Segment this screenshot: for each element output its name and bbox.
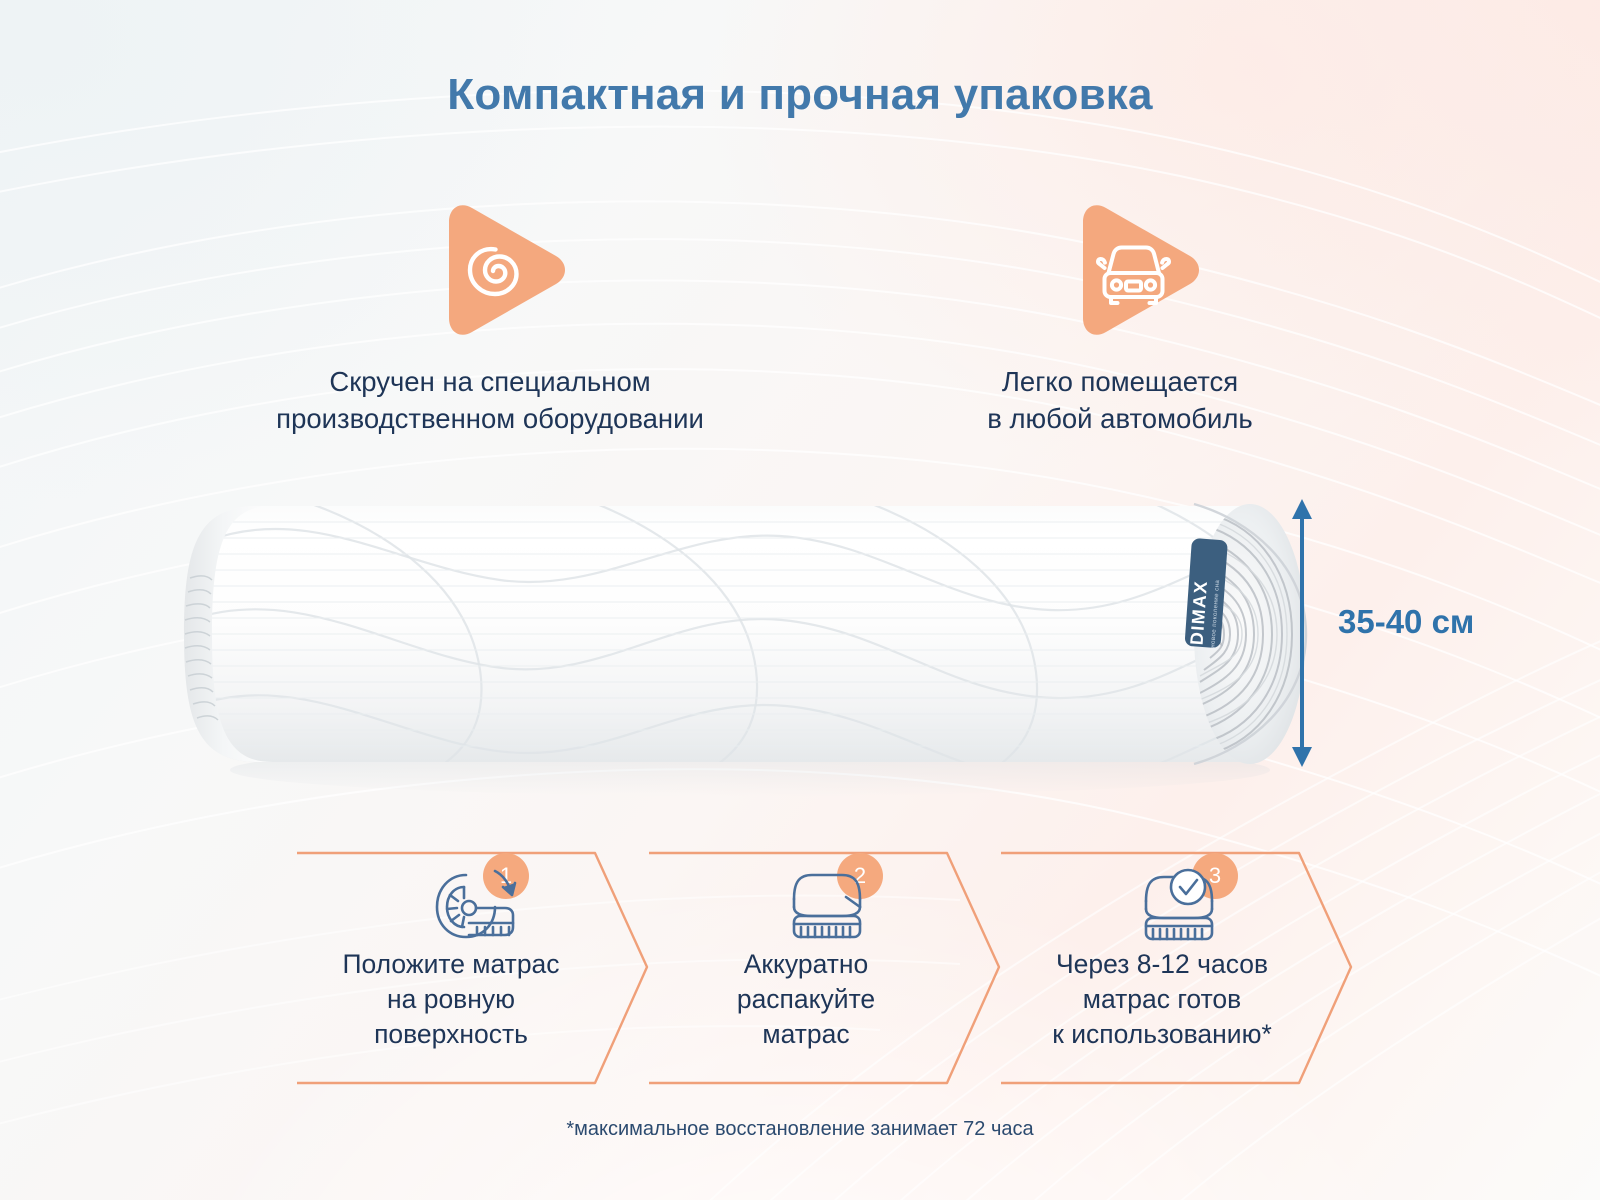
feature-2-text: Легко помещается в любой автомобиль	[860, 364, 1380, 437]
feature-1-text: Скручен на специальном производственном …	[200, 364, 780, 437]
spiral-roll-icon	[432, 196, 572, 344]
feature-block-car: Легко помещается в любой автомобиль	[860, 196, 1380, 437]
brand-tag: DIMAX новое поколение сна	[1184, 538, 1227, 648]
mattress-ready-check-icon	[999, 867, 1359, 950]
unpack-mattress-icon	[647, 867, 1007, 950]
rolled-mattress-image: DIMAX новое поколение сна	[150, 470, 1370, 800]
step-card-2: 2 Аккуратно распакуйте матрас	[647, 845, 1007, 1090]
feature-block-rolled: Скручен на специальном производственном …	[200, 196, 780, 437]
infographic-canvas: Компактная и прочная упаковка Скручен на…	[0, 0, 1600, 1200]
step-3-text: Через 8-12 часов матрас готов к использо…	[999, 947, 1359, 1052]
page-title: Компактная и прочная упаковка	[0, 70, 1600, 120]
step-card-3: 3 Через 8-12 часов матрас готов к ис	[999, 845, 1359, 1090]
double-vertical-arrow-icon	[1280, 495, 1340, 770]
dimension-label: 35-40 см	[1338, 603, 1474, 641]
steps-row: 1 Положите матрас на ро	[295, 845, 1305, 1090]
step-1-text: Положите матрас на ровную поверхность	[295, 947, 655, 1052]
dimension-indicator: 35-40 см	[1280, 495, 1580, 770]
footnote-text: *максимальное восстановление занимает 72…	[0, 1118, 1600, 1141]
step-card-1: 1 Положите матрас на ро	[295, 845, 655, 1090]
car-front-icon	[1066, 196, 1206, 344]
step-2-text: Аккуратно распакуйте матрас	[647, 947, 1007, 1052]
unroll-mattress-icon	[295, 867, 655, 950]
